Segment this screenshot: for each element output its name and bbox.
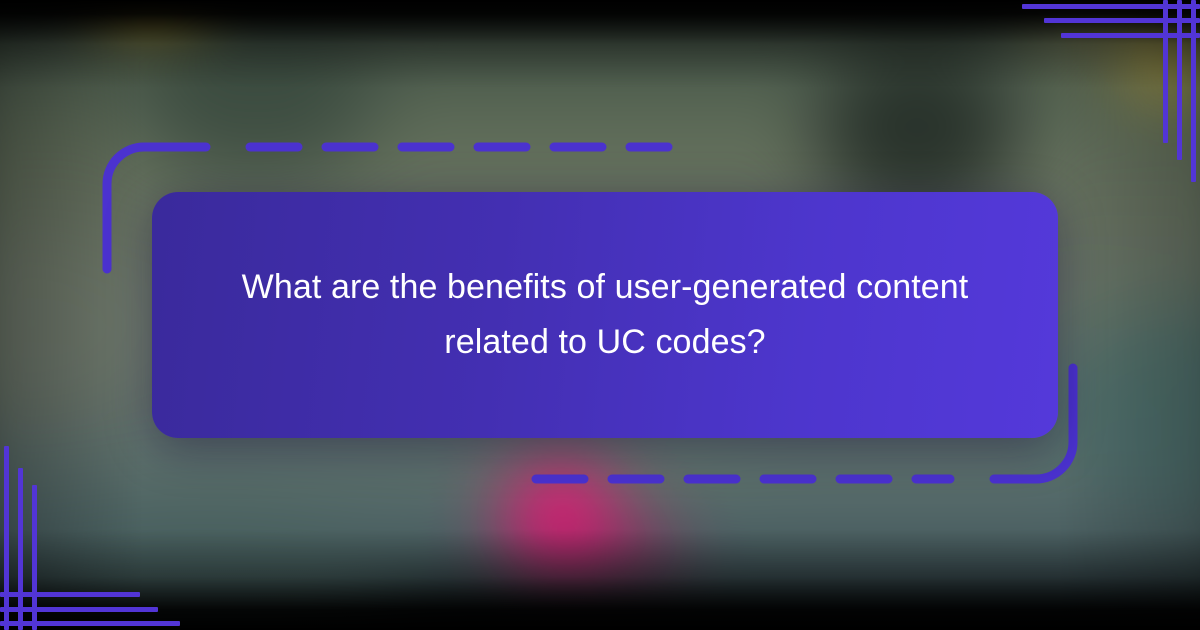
og-image-card: What are the benefits of user-generated … [0, 0, 1200, 630]
quote-card: What are the benefits of user-generated … [152, 192, 1058, 438]
frame-line-horizontal [0, 621, 180, 626]
corner-frame-top-right [1022, 0, 1200, 182]
frame-line-horizontal [1022, 4, 1200, 9]
frame-line-vertical [1191, 0, 1196, 182]
frame-line-vertical [1163, 0, 1168, 143]
frame-line-vertical [32, 485, 37, 630]
frame-line-vertical [4, 446, 9, 630]
frame-line-vertical [18, 468, 23, 630]
frame-line-horizontal [0, 607, 158, 612]
corner-frame-bottom-left [0, 446, 180, 630]
frame-line-vertical [1177, 0, 1182, 160]
quote-text: What are the benefits of user-generated … [225, 260, 985, 371]
